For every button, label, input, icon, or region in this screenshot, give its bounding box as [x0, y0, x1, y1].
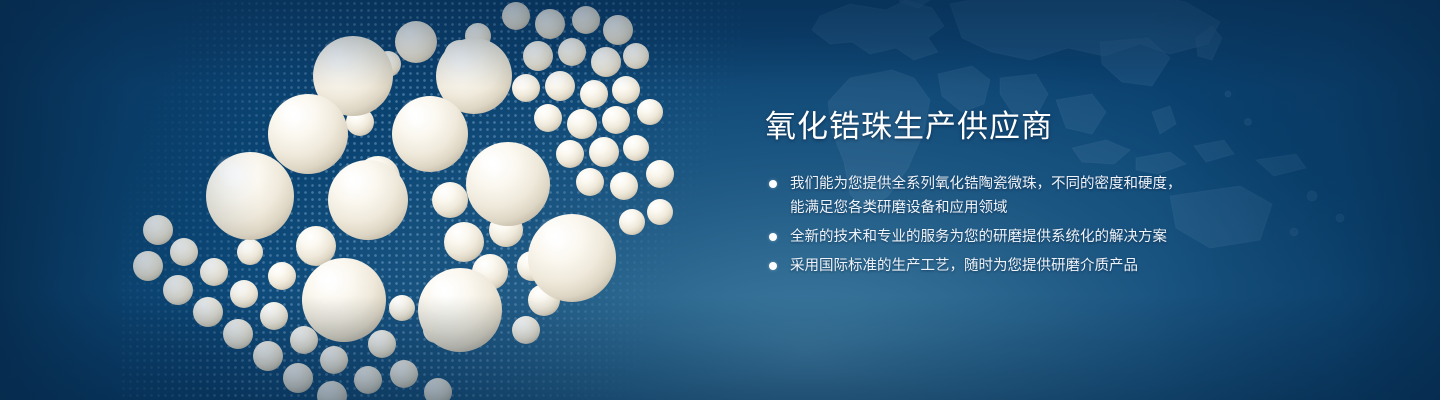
list-item: 全新的技术和专业的服务为您的研磨提供系统化的解决方案	[765, 225, 1325, 249]
feature-list: 我们能为您提供全系列氧化锆陶瓷微珠，不同的密度和硬度， 能满足您各类研磨设备和应…	[765, 172, 1325, 278]
list-item: 我们能为您提供全系列氧化锆陶瓷微珠，不同的密度和硬度， 能满足您各类研磨设备和应…	[765, 172, 1325, 220]
bullet-dot-icon	[769, 262, 777, 270]
hero-copy: 氧化锆珠生产供应商 我们能为您提供全系列氧化锆陶瓷微珠，不同的密度和硬度， 能满…	[765, 108, 1325, 278]
bullet-dot-icon	[769, 233, 777, 241]
list-item-line1: 我们能为您提供全系列氧化锆陶瓷微珠，不同的密度和硬度，	[790, 176, 1182, 192]
list-item: 采用国际标准的生产工艺，随时为您提供研磨介质产品	[765, 254, 1325, 278]
hero-banner: 氧化锆珠生产供应商 我们能为您提供全系列氧化锆陶瓷微珠，不同的密度和硬度， 能满…	[0, 0, 1440, 400]
bullet-dot-icon	[769, 180, 777, 188]
list-item-line2: 能满足您各类研磨设备和应用领域	[790, 196, 1325, 220]
page-title: 氧化锆珠生产供应商	[765, 108, 1325, 146]
list-item-line1: 采用国际标准的生产工艺，随时为您提供研磨介质产品	[790, 258, 1138, 274]
list-item-line1: 全新的技术和专业的服务为您的研磨提供系统化的解决方案	[790, 229, 1167, 245]
